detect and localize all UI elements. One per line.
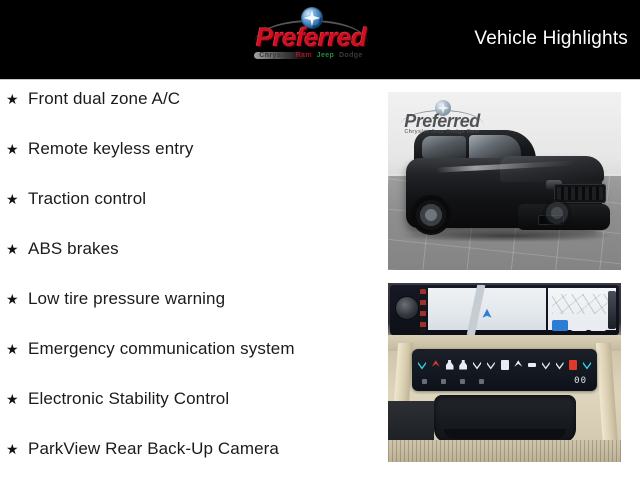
logo-brand-chrysler: Chrysler bbox=[259, 52, 291, 59]
feature-list-item: ★Electronic Stability Control bbox=[0, 390, 382, 440]
temperature-minus-icon bbox=[528, 363, 536, 367]
defrost-icon bbox=[473, 360, 481, 370]
feature-label: Electronic Stability Control bbox=[28, 390, 382, 407]
star-bullet-icon: ★ bbox=[6, 292, 28, 306]
climate-indicator-dot bbox=[460, 379, 465, 384]
climate-control-panel: 00 bbox=[412, 349, 597, 391]
feature-list-item: ★Remote keyless entry bbox=[0, 140, 382, 190]
display-app-tile bbox=[590, 320, 606, 331]
suv-hood bbox=[500, 156, 604, 182]
logo-wordmark: Preferred bbox=[246, 24, 376, 50]
max-heat-icon bbox=[569, 360, 577, 370]
max-cool-icon bbox=[583, 360, 591, 370]
display-side-buttons bbox=[420, 289, 426, 333]
star-bullet-icon: ★ bbox=[6, 192, 28, 206]
seat-vent-icon bbox=[459, 360, 467, 370]
star-bullet-icon: ★ bbox=[6, 142, 28, 156]
vehicle-features-list: ★Front dual zone A/C★Remote keyless entr… bbox=[0, 81, 382, 480]
navigation-map-view bbox=[428, 288, 546, 330]
watermark-wordmark: Preferred bbox=[394, 112, 490, 130]
feature-label: Traction control bbox=[28, 190, 382, 207]
feature-list-item: ★Emergency communication system bbox=[0, 340, 382, 390]
display-app-tile bbox=[571, 320, 587, 331]
console-mat bbox=[388, 440, 621, 462]
airflow-up-icon bbox=[514, 360, 522, 370]
auto-mode-icon bbox=[556, 360, 564, 370]
display-rotary-knob-icon bbox=[396, 297, 418, 319]
feature-list-item: ★Low tire pressure warning bbox=[0, 290, 382, 340]
seat-heater-icon bbox=[446, 360, 454, 370]
logo-brands-line: Chrysler Ram Jeep Dodge bbox=[246, 51, 376, 60]
star-bullet-icon: ★ bbox=[6, 242, 28, 256]
vehicle-highlights-page: Preferred Chrysler Ram Jeep Dodge Vehicl… bbox=[0, 0, 640, 480]
fan-down-icon bbox=[418, 360, 426, 370]
feature-label: ABS brakes bbox=[28, 240, 382, 257]
dealer-logo[interactable]: Preferred Chrysler Ram Jeep Dodge bbox=[246, 6, 376, 68]
feature-list-item: ★ParkView Rear Back-Up Camera bbox=[0, 440, 382, 490]
logo-brand-dodge: Dodge bbox=[339, 52, 363, 59]
feature-label: Emergency communication system bbox=[28, 340, 382, 357]
infotainment-display bbox=[390, 285, 619, 335]
photo-watermark: Preferred Chrysler Jeep Dodge Ram bbox=[394, 100, 490, 140]
center-console-storage-tray bbox=[434, 395, 576, 443]
display-right-button bbox=[608, 291, 616, 329]
feature-list-item: ★Front dual zone A/C bbox=[0, 90, 382, 140]
page-title: Vehicle Highlights bbox=[474, 28, 628, 50]
recirculation-icon bbox=[501, 360, 509, 370]
suv-front-wheel bbox=[412, 196, 450, 234]
feature-list-item: ★ABS brakes bbox=[0, 240, 382, 290]
climate-temperature-readout: 00 bbox=[574, 377, 587, 386]
climate-indicator-dot bbox=[422, 379, 427, 384]
rear-defrost-icon bbox=[542, 360, 550, 370]
climate-icon-row bbox=[418, 358, 591, 371]
airflow-down-icon bbox=[487, 360, 495, 370]
watermark-brands-line: Chrysler Jeep Dodge Ram bbox=[394, 129, 490, 135]
vehicle-interior-photo[interactable]: 00 bbox=[388, 283, 621, 462]
climate-indicator-dot bbox=[479, 379, 484, 384]
star-bullet-icon: ★ bbox=[6, 442, 28, 456]
feature-label: Remote keyless entry bbox=[28, 140, 382, 157]
heat-up-icon bbox=[432, 360, 440, 370]
climate-sub-row: 00 bbox=[422, 376, 587, 386]
feature-label: Front dual zone A/C bbox=[28, 90, 382, 107]
feature-label: Low tire pressure warning bbox=[28, 290, 382, 307]
star-bullet-icon: ★ bbox=[6, 92, 28, 106]
logo-brand-ram: Ram bbox=[296, 52, 312, 59]
page-header: Preferred Chrysler Ram Jeep Dodge Vehicl… bbox=[0, 0, 640, 80]
star-bullet-icon: ★ bbox=[6, 342, 28, 356]
feature-label: ParkView Rear Back-Up Camera bbox=[28, 440, 382, 457]
suv-illustration bbox=[396, 122, 612, 248]
suv-rear-wheel bbox=[544, 200, 570, 226]
climate-indicator-dot bbox=[441, 379, 446, 384]
display-app-tile bbox=[552, 320, 568, 331]
logo-brand-jeep: Jeep bbox=[317, 52, 335, 59]
vehicle-exterior-photo[interactable]: Preferred Chrysler Jeep Dodge Ram bbox=[388, 92, 621, 270]
feature-list-item: ★Traction control bbox=[0, 190, 382, 240]
star-bullet-icon: ★ bbox=[6, 392, 28, 406]
